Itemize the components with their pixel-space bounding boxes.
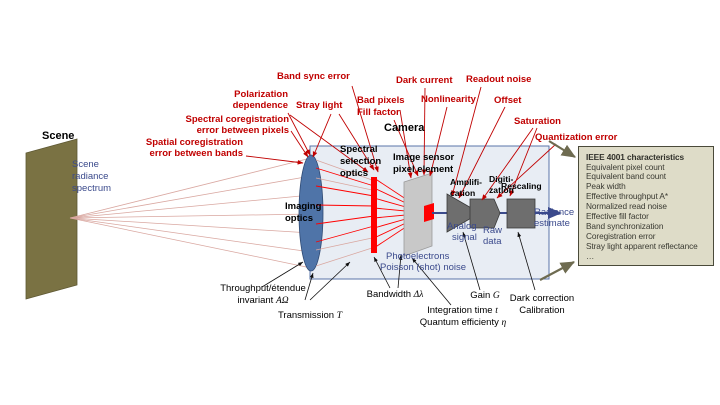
label-transmission: Transmission T [230,311,390,321]
label-dark-current: Dark current [396,76,453,86]
scene-radiance-line3: spectrum [72,184,111,194]
scene-radiance-line2: radiance [72,172,108,182]
label-bad-pixels: Bad pixels [357,96,405,106]
label-quantization-error: Quantization error [535,133,617,143]
label-spatial-coregistration-line1: Spatial coregistration [123,138,243,148]
rescaling-block [507,199,535,228]
label-amplification-line1: Amplifi- [450,178,482,187]
label-photoelectrons-line1: Photoelectrons [386,252,449,262]
throughput-symbol: AΩ [276,296,289,306]
ieee-4001-characteristics-box: IEEE 4001 characteristics Equivalent pix… [578,146,714,266]
throughput-text: invariant [237,295,276,306]
label-spatial-coregistration-line2: error between bands [123,149,243,159]
label-offset: Offset [494,96,521,106]
label-band-sync-error: Band sync error [277,72,350,82]
label-raw-data-line2: data [483,237,502,247]
label-image-sensor-line2: pixel element [393,165,453,175]
label-imaging-optics-line1: Imaging [285,202,321,212]
ieee-item-8: Stray light apparent reflectance [586,242,708,252]
label-throughput-line2: invariant AΩ [178,296,348,306]
label-spectral-coregistration-line1: Spectral coregistration [163,115,289,125]
bandwidth-symbol: Δλ [414,290,424,300]
label-photoelectrons-line2: Poisson (shot) noise [380,263,466,273]
label-quantum-efficiency: Quantum efficienty η [393,318,533,328]
transmission-symbol: T [337,311,342,321]
quantum-text: Quantum efficienty [420,317,502,328]
label-radiance-estimate-line2: estimate [534,219,570,229]
ieee-box-header: IEEE 4001 characteristics [586,152,708,162]
label-spectral-selection-line3: optics [340,169,368,179]
label-readout-noise: Readout noise [466,75,531,85]
transmission-text: Transmission [278,310,337,321]
gain-text: Gain [470,290,493,301]
label-spectral-selection-line1: Spectral [340,145,378,155]
scene-plane [26,139,77,299]
integration-text: Integration time [427,305,495,316]
label-rescaling: Rescaling [501,182,542,191]
ieee-item-9: … [586,252,708,262]
label-spectral-coregistration-line2: error between pixels [163,126,289,136]
label-analog-signal-line2: signal [452,233,477,243]
label-dark-correction-line2: Calibration [492,306,592,316]
label-analog-signal-line1: Analog [447,222,477,232]
label-fill-factor: Fill factor [357,108,400,118]
label-throughput-line1: Throughput/étendue [178,284,348,294]
label-image-sensor-line1: Image sensor [393,153,454,163]
spectral-selection-filter [371,177,377,253]
scene-radiance-line1: Scene [72,160,99,170]
label-polarization-line1: Polarization [208,90,288,100]
label-imaging-optics-line2: optics [285,214,313,224]
label-dark-correction-line1: Dark correction [492,294,592,304]
label-spectral-selection-line2: selection [340,157,381,167]
label-radiance-estimate-line1: Radiance [534,208,574,218]
label-stray-light: Stray light [296,101,342,111]
label-polarization-line2: dependence [208,101,288,111]
label-raw-data-line1: Raw [483,226,502,236]
bandwidth-text: Bandwidth [367,289,414,300]
label-amplification-line2: cation [450,189,475,198]
label-nonlinearity: Nonlinearity [421,95,476,105]
camera-title: Camera [384,123,424,135]
quantum-symbol: η [501,318,506,328]
scene-title: Scene [42,131,74,143]
hyperspectral-imaging-chain-diagram: Scene Camera Scene radiance spectrum Spa… [0,0,720,405]
label-saturation: Saturation [514,117,561,127]
